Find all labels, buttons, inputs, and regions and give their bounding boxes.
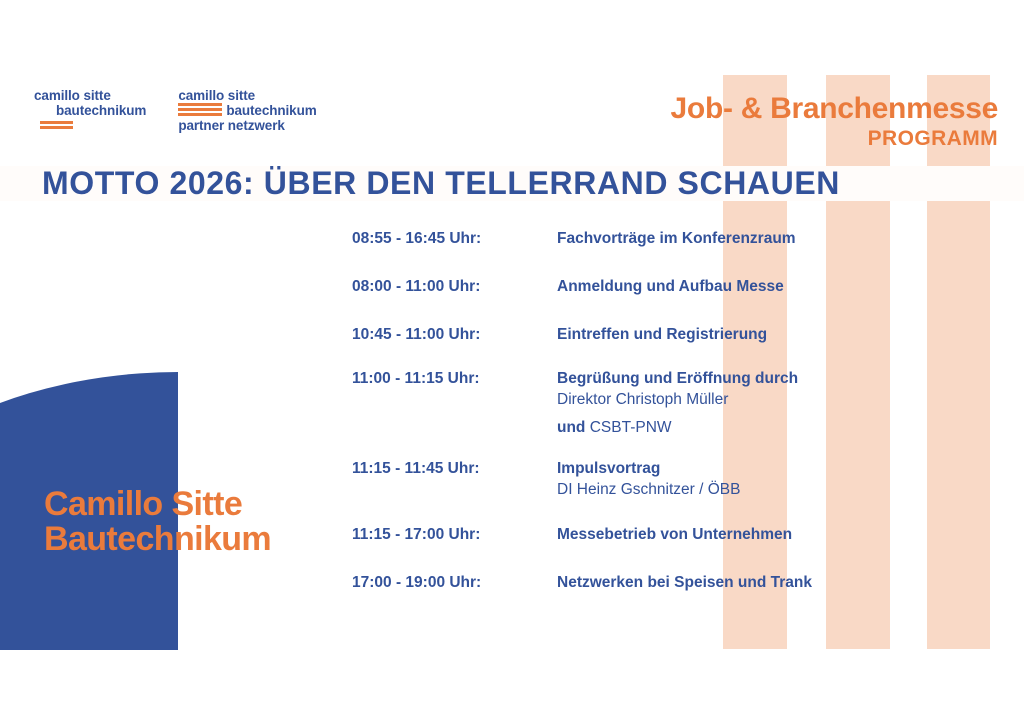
schedule-primary: Begrüßung und Eröffnung durch [557, 368, 972, 389]
logo-partner-line2: bautechnikum [226, 103, 316, 118]
schedule-primary: Anmeldung und Aufbau Messe [557, 276, 972, 297]
brand-line1: Camillo Sitte [44, 487, 271, 521]
schedule-time: 10:45 - 11:00 Uhr: [352, 324, 557, 345]
logo-partner-row2: bautechnikum [178, 103, 316, 118]
schedule-row: 17:00 - 19:00 Uhr: Netzwerken bei Speise… [352, 572, 972, 593]
schedule-description: Begrüßung und Eröffnung durch Direktor C… [557, 368, 972, 438]
schedule-primary: Netzwerken bei Speisen und Trank [557, 572, 972, 593]
schedule-time: 11:15 - 11:45 Uhr: [352, 458, 557, 479]
schedule-primary: Fachvorträge im Konferenzraum [557, 228, 972, 249]
schedule-row: 11:15 - 17:00 Uhr: Messebetrieb von Unte… [352, 524, 972, 545]
logo-partner-bar-1 [178, 103, 222, 106]
schedule-time: 11:15 - 17:00 Uhr: [352, 524, 557, 545]
logo-bar-2 [40, 126, 73, 129]
schedule-time: 08:00 - 11:00 Uhr: [352, 276, 557, 297]
schedule-description: Messebetrieb von Unternehmen [557, 524, 972, 545]
logo-partner-line1: camillo sitte [178, 88, 316, 103]
schedule-secondary: DI Heinz Gschnitzer / ÖBB [557, 479, 972, 500]
schedule-secondary-2-text: CSBT-PNW [590, 419, 672, 436]
schedule-primary: Eintreffen und Registrierung [557, 324, 972, 345]
schedule-description: Impulsvortrag DI Heinz Gschnitzer / ÖBB [557, 458, 972, 500]
event-header: Job- & Branchenmesse PROGRAMM [671, 92, 998, 151]
schedule-row: 11:15 - 11:45 Uhr: Impulsvortrag DI Hein… [352, 458, 972, 500]
motto-headline: MOTTO 2026: ÜBER DEN TELLERRAND SCHAUEN [42, 163, 840, 203]
logo-primary-line2: bautechnikum [34, 103, 146, 118]
schedule-secondary-2-bold: und [557, 419, 590, 436]
schedule-list: 08:55 - 16:45 Uhr: Fachvorträge im Konfe… [352, 228, 972, 593]
schedule-description: Netzwerken bei Speisen und Trank [557, 572, 972, 593]
schedule-secondary: Direktor Christoph Müller [557, 389, 972, 410]
logo-partner-line3: partner netzwerk [178, 118, 316, 133]
schedule-time: 08:55 - 16:45 Uhr: [352, 228, 557, 249]
schedule-primary: Messebetrieb von Unternehmen [557, 524, 972, 545]
logo-camillo-sitte-bautechnikum: camillo sitte bautechnikum [34, 88, 146, 131]
logo-partner-bar-2 [178, 108, 222, 111]
logo-bar-1 [40, 121, 73, 124]
schedule-description: Anmeldung und Aufbau Messe [557, 276, 972, 297]
event-subtitle: PROGRAMM [671, 127, 998, 151]
logo-partner-bars-icon [178, 103, 222, 118]
logo-bars-icon [40, 121, 73, 129]
schedule-secondary-2: und CSBT-PNW [557, 417, 972, 438]
schedule-row: 10:45 - 11:00 Uhr: Eintreffen und Regist… [352, 324, 972, 345]
logo-primary-line1: camillo sitte [34, 88, 146, 103]
schedule-time: 11:00 - 11:15 Uhr: [352, 368, 557, 389]
schedule-time: 17:00 - 19:00 Uhr: [352, 572, 557, 593]
event-title: Job- & Branchenmesse [671, 92, 998, 126]
logo-group: camillo sitte bautechnikum camillo sitte… [34, 88, 317, 133]
brand-lockup: Camillo Sitte Bautechnikum [44, 487, 271, 557]
schedule-description: Eintreffen und Registrierung [557, 324, 972, 345]
schedule-row: 08:55 - 16:45 Uhr: Fachvorträge im Konfe… [352, 228, 972, 249]
logo-partner-bar-3 [178, 113, 222, 116]
logo-partner-netzwerk: camillo sitte bautechnikum partner netzw… [178, 88, 316, 133]
schedule-row: 11:00 - 11:15 Uhr: Begrüßung und Eröffnu… [352, 368, 972, 438]
schedule-description: Fachvorträge im Konferenzraum [557, 228, 972, 249]
schedule-primary: Impulsvortrag [557, 458, 972, 479]
brand-line2: Bautechnikum [44, 521, 271, 557]
schedule-row: 08:00 - 11:00 Uhr: Anmeldung und Aufbau … [352, 276, 972, 297]
programm-poster: camillo sitte bautechnikum camillo sitte… [0, 0, 1024, 724]
